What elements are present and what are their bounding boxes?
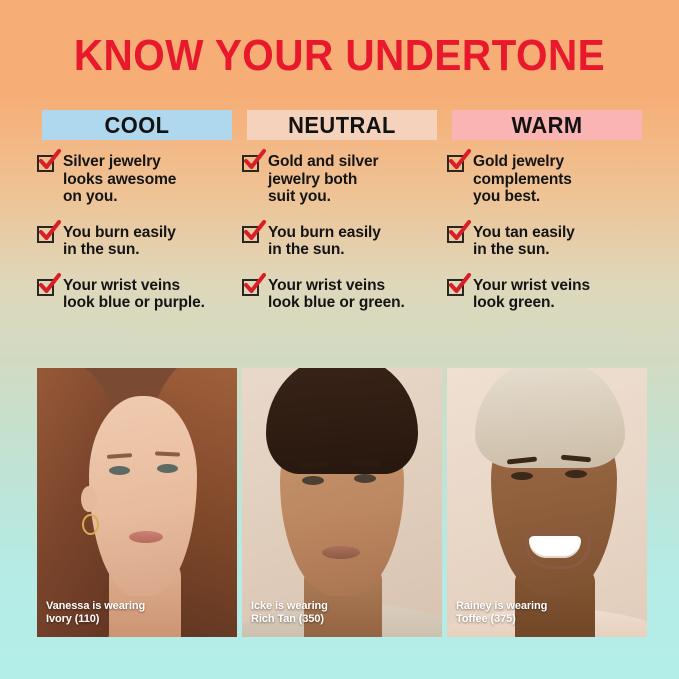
model-photos: Vanessa is wearing Ivory (110) Icke is w… <box>37 368 642 637</box>
checklist-item-label: Your wrist veins look green. <box>473 277 590 312</box>
column-neutral: NEUTRAL Gold and silver jewelry both sui… <box>242 110 442 312</box>
photo-caption: Icke is wearing Rich Tan (350) <box>251 600 328 625</box>
checkbox-icon[interactable] <box>37 279 54 296</box>
checklist-item[interactable]: Your wrist veins look blue or purple. <box>37 277 237 312</box>
checkbox-icon[interactable] <box>447 226 464 243</box>
column-header-warm: WARM <box>452 110 642 140</box>
checkbox-icon[interactable] <box>242 155 259 172</box>
checkbox-icon[interactable] <box>37 155 54 172</box>
column-header-cool: COOL <box>42 110 232 140</box>
checklist-item-label: Gold jewelry complements you best. <box>473 153 572 206</box>
photo-caption: Vanessa is wearing Ivory (110) <box>46 600 145 625</box>
checklist-item-label: Your wrist veins look blue or green. <box>268 277 405 312</box>
column-header-neutral: NEUTRAL <box>247 110 437 140</box>
checklist-item[interactable]: You burn easily in the sun. <box>242 224 442 259</box>
model-photo-vanessa: Vanessa is wearing Ivory (110) <box>37 368 237 637</box>
checkbox-icon[interactable] <box>447 279 464 296</box>
checklist-item[interactable]: Silver jewelry looks awesome on you. <box>37 153 237 206</box>
checklist-item-label: Your wrist veins look blue or purple. <box>63 277 205 312</box>
checklist-item[interactable]: Gold jewelry complements you best. <box>447 153 647 206</box>
checklist-item[interactable]: Your wrist veins look blue or green. <box>242 277 442 312</box>
page-title: KNOW YOUR UNDERTONE <box>27 32 652 80</box>
checklist-item[interactable]: You burn easily in the sun. <box>37 224 237 259</box>
portrait-illustration <box>447 368 647 637</box>
checklist-item-label: You burn easily in the sun. <box>268 224 381 259</box>
checklist-item[interactable]: You tan easily in the sun. <box>447 224 647 259</box>
column-cool: COOL Silver jewelry looks awesome on you… <box>37 110 237 312</box>
checklist-neutral: Gold and silver jewelry both suit you. Y… <box>242 153 442 312</box>
checklist-item-label: Silver jewelry looks awesome on you. <box>63 153 176 206</box>
checkbox-icon[interactable] <box>37 226 54 243</box>
checkbox-icon[interactable] <box>242 226 259 243</box>
checklist-item-label: Gold and silver jewelry both suit you. <box>268 153 378 206</box>
checklist-warm: Gold jewelry complements you best. You t… <box>447 153 647 312</box>
checklist-item-label: You burn easily in the sun. <box>63 224 176 259</box>
portrait-illustration <box>242 368 442 637</box>
portrait-illustration <box>37 368 237 637</box>
checklist-item[interactable]: Your wrist veins look green. <box>447 277 647 312</box>
undertone-poster: KNOW YOUR UNDERTONE COOL Silver jewelry … <box>0 0 679 679</box>
undertone-columns: COOL Silver jewelry looks awesome on you… <box>37 110 642 312</box>
checkbox-icon[interactable] <box>242 279 259 296</box>
checkbox-icon[interactable] <box>447 155 464 172</box>
checklist-cool: Silver jewelry looks awesome on you. You… <box>37 153 237 312</box>
model-photo-rainey: Rainey is wearing Toffee (375) <box>447 368 647 637</box>
model-photo-icke: Icke is wearing Rich Tan (350) <box>242 368 442 637</box>
photo-caption: Rainey is wearing Toffee (375) <box>456 600 547 625</box>
checklist-item[interactable]: Gold and silver jewelry both suit you. <box>242 153 442 206</box>
column-warm: WARM Gold jewelry complements you best. … <box>447 110 647 312</box>
checklist-item-label: You tan easily in the sun. <box>473 224 575 259</box>
